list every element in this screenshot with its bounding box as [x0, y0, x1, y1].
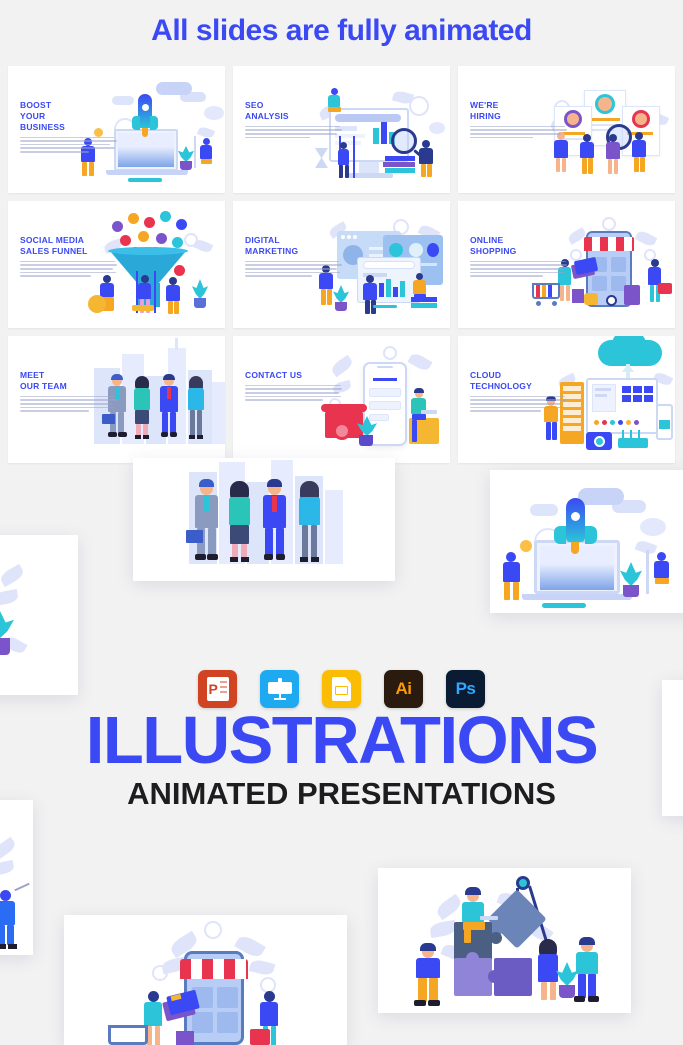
slide-lorem	[20, 137, 118, 153]
floating-card-shopping[interactable]	[64, 915, 347, 1045]
slide-card-online-shopping[interactable]: ONLINESHOPPING	[458, 201, 675, 328]
slide-text-block: SOCIAL MEDIASALES FUNNEL	[20, 235, 118, 279]
slide-title: CLOUDTECHNOLOGY	[470, 370, 568, 392]
floating-card-rocket[interactable]	[490, 470, 683, 613]
slide-text-block: ONLINESHOPPING	[470, 235, 568, 279]
photoshop-label: Ps	[456, 679, 476, 699]
slide-lorem	[20, 261, 118, 277]
slide-card-social-media-sales-funnel[interactable]: SOCIAL MEDIASALES FUNNEL	[8, 201, 225, 328]
floating-card-puzzle[interactable]	[378, 868, 631, 1013]
slide-text-block: BOOSTYOURBUSINESS	[20, 100, 118, 155]
slide-text-block: SEOANALYSIS	[245, 100, 343, 140]
slide-title: ONLINESHOPPING	[470, 235, 568, 257]
slide-lorem	[245, 261, 343, 277]
slide-grid-row: MEETOUR TEAM	[8, 336, 675, 463]
slide-text-block: MEETOUR TEAM	[20, 370, 118, 414]
slide-grid-row: BOOSTYOURBUSINESS	[8, 66, 675, 193]
slide-card-contact-us[interactable]: CONTACT US	[233, 336, 450, 463]
slide-card-were-hiring[interactable]: WE'REHIRING	[458, 66, 675, 193]
slide-card-seo-analysis[interactable]: SEOANALYSIS	[233, 66, 450, 193]
slide-lorem	[470, 261, 568, 277]
illustration-online-shopping	[64, 915, 347, 1045]
slide-lorem	[20, 396, 118, 412]
slide-grid: BOOSTYOURBUSINESS	[8, 66, 675, 471]
floating-card-team[interactable]	[133, 458, 395, 581]
slide-text-block: WE'REHIRING	[470, 100, 568, 140]
illustration-meet-team	[133, 458, 395, 581]
slide-title: BOOSTYOURBUSINESS	[20, 100, 118, 133]
slide-text-block: CONTACT US	[245, 370, 343, 403]
slide-lorem	[470, 126, 568, 138]
slide-title: SOCIAL MEDIASALES FUNNEL	[20, 235, 118, 257]
page-subtitle: ANIMATED PRESENTATIONS	[0, 776, 683, 812]
slide-lorem	[245, 385, 343, 401]
illustration-rocket-laptop	[490, 470, 683, 613]
slide-lorem	[470, 396, 568, 412]
slide-text-block: DIGITALMARKETING	[245, 235, 343, 279]
slide-title: MEETOUR TEAM	[20, 370, 118, 392]
page-title: ILLUSTRATIONS	[0, 707, 683, 774]
page-headline: All slides are fully animated	[0, 14, 683, 48]
illustrator-label: Ai	[396, 679, 412, 699]
slide-card-boost-your-business[interactable]: BOOSTYOURBUSINESS	[8, 66, 225, 193]
slide-grid-row: SOCIAL MEDIASALES FUNNEL	[8, 201, 675, 328]
slide-card-cloud-technology[interactable]: CLOUDTECHNOLOGY	[458, 336, 675, 463]
slide-title: CONTACT US	[245, 370, 343, 381]
slide-title: DIGITALMARKETING	[245, 235, 343, 257]
illustration-teamwork-puzzle	[378, 868, 631, 1013]
slide-card-digital-marketing[interactable]: DIGITALMARKETING	[233, 201, 450, 328]
slide-title: SEOANALYSIS	[245, 100, 343, 122]
slide-title: WE'REHIRING	[470, 100, 568, 122]
slide-text-block: CLOUDTECHNOLOGY	[470, 370, 568, 414]
illustration-person-partial	[0, 800, 33, 955]
floating-card-left-edge-2[interactable]	[0, 800, 33, 955]
slide-card-meet-our-team[interactable]: MEETOUR TEAM	[8, 336, 225, 463]
poster-canvas: All slides are fully animated	[0, 0, 683, 1024]
slide-lorem	[245, 126, 343, 138]
